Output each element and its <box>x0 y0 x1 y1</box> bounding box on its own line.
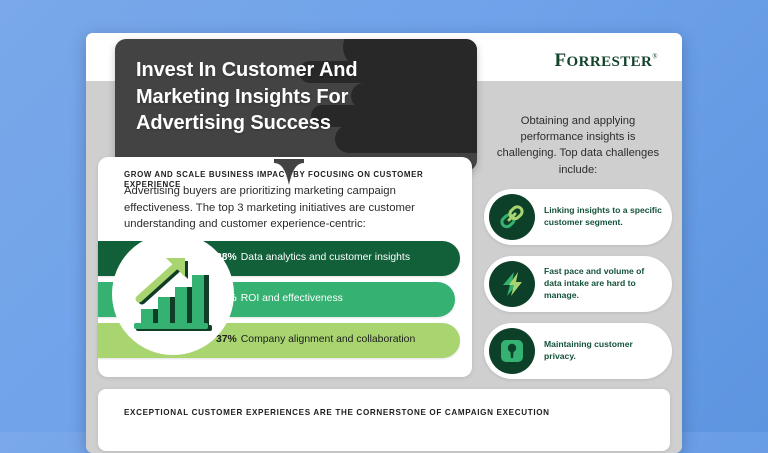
lock-keyhole-icon-circle <box>489 328 535 374</box>
growth-bar-chart-icon <box>130 251 216 337</box>
chain-link-icon-circle <box>489 194 535 240</box>
page-title: Invest In Customer And Marketing Insight… <box>136 57 406 137</box>
header-title-bubble: Invest In Customer And Marketing Insight… <box>115 39 477 171</box>
challenges-intro-text: Obtaining and applying performance insig… <box>484 113 672 178</box>
screenshot-viewport: FORRESTER® Invest In Customer And Market… <box>0 0 768 432</box>
growth-chart-circle <box>112 233 234 355</box>
main-section-body: Advertising buyers are prioritizing mark… <box>124 183 454 233</box>
bar-text: Company alignment and collaboration <box>241 334 415 345</box>
challenge-text: Maintaining customer privacy. <box>535 339 672 363</box>
lightning-bolt-icon <box>498 270 526 298</box>
chain-link-icon <box>498 203 526 231</box>
bar-text: ROI and effectiveness <box>241 293 343 304</box>
bottom-content-card: EXCEPTIONAL CUSTOMER EXPERIENCES ARE THE… <box>98 389 670 451</box>
bar-text: Data analytics and customer insights <box>241 252 410 263</box>
speech-bubble-tail-icon <box>274 159 304 185</box>
bar-percent: 37% <box>216 334 237 345</box>
challenge-card-privacy: Maintaining customer privacy. <box>484 323 672 379</box>
challenge-card-data-volume: Fast pace and volume of data intake are … <box>484 256 672 312</box>
challenge-card-linking-insights: Linking insights to a specific customer … <box>484 189 672 245</box>
challenge-text: Fast pace and volume of data intake are … <box>535 266 672 302</box>
challenge-text: Linking insights to a specific customer … <box>535 205 672 229</box>
challenges-column: Obtaining and applying performance insig… <box>484 113 672 379</box>
logo-initial: F <box>555 50 567 71</box>
infographic-page: FORRESTER® Invest In Customer And Market… <box>86 33 682 453</box>
forrester-logo: FORRESTER® <box>555 51 658 70</box>
main-content-card: GROW AND SCALE BUSINESS IMPACT BY FOCUSI… <box>98 157 472 377</box>
registered-trademark-icon: ® <box>652 53 658 61</box>
bottom-section-kicker: EXCEPTIONAL CUSTOMER EXPERIENCES ARE THE… <box>124 408 550 417</box>
lock-keyhole-icon <box>498 337 526 365</box>
logo-wordmark: ORRESTER <box>567 54 653 70</box>
lightning-bolt-icon-circle <box>489 261 535 307</box>
